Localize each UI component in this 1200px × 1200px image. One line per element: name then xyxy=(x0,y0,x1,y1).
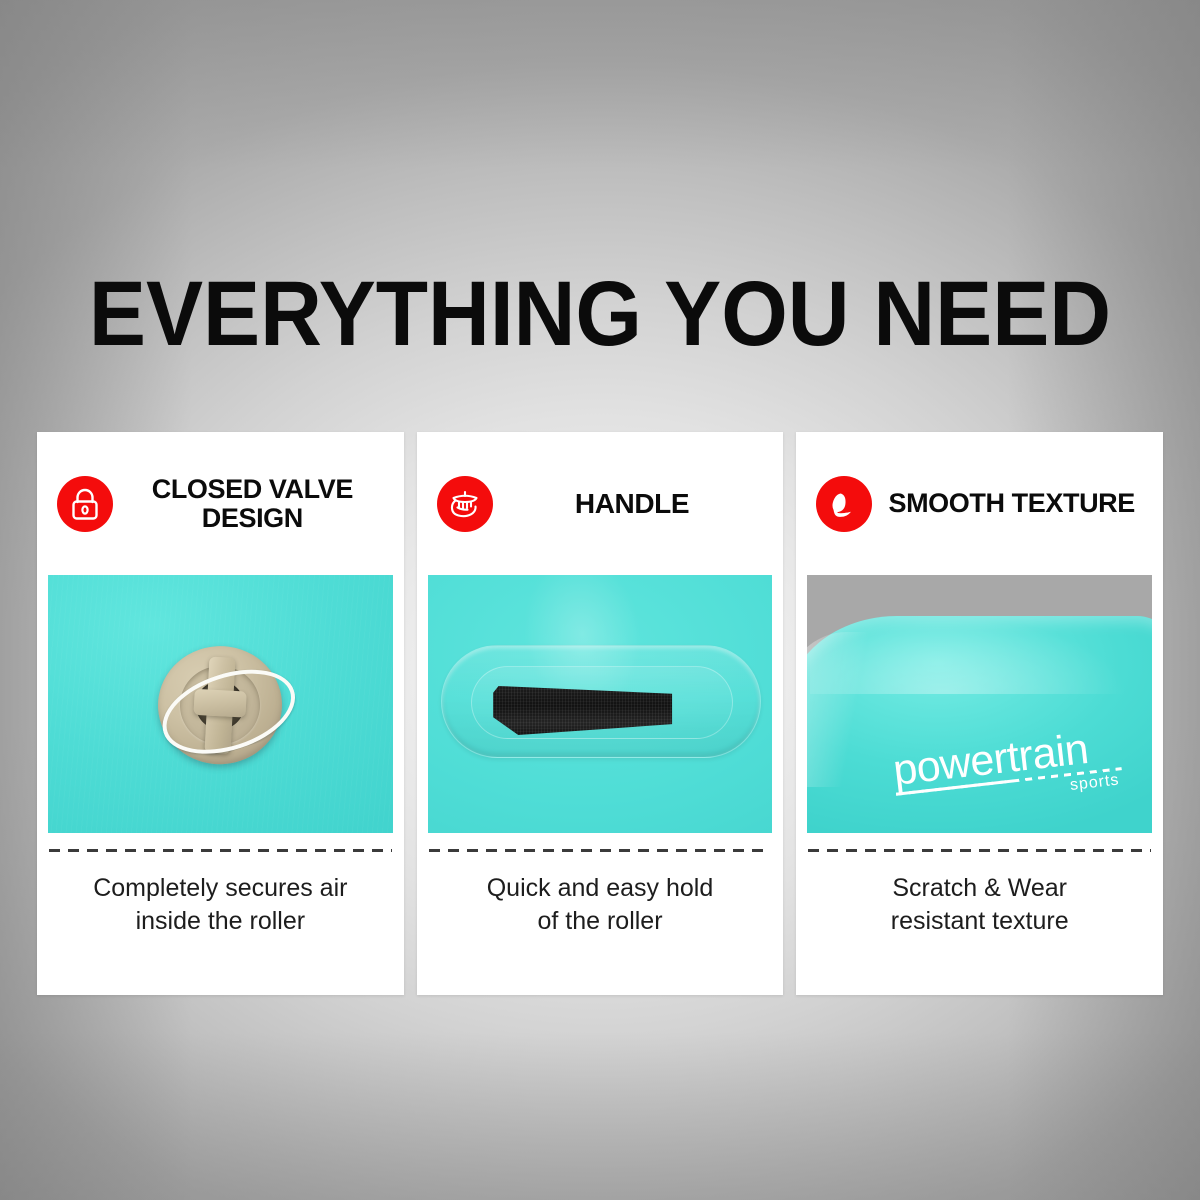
feature-cards-row: CLOSED VALVE DESIGN Completely secures a… xyxy=(37,432,1163,995)
feature-card-handle[interactable]: HANDLE Quick and easy hold of the roller xyxy=(417,432,784,995)
closed-valve-photo xyxy=(48,575,393,833)
card-title: HANDLE xyxy=(499,489,770,519)
feature-card-closed-valve-design[interactable]: CLOSED VALVE DESIGN Completely secures a… xyxy=(37,432,404,995)
feature-card-smooth-texture[interactable]: SMOOTH TEXTURE powertrain sports Scratch… xyxy=(796,432,1163,995)
grip-hand-icon xyxy=(437,476,493,532)
card-caption: Quick and easy hold of the roller xyxy=(417,852,784,995)
card-title: CLOSED VALVE DESIGN xyxy=(119,475,390,533)
valve-assembly xyxy=(155,643,285,767)
card-header: SMOOTH TEXTURE xyxy=(796,432,1163,575)
feather-icon xyxy=(816,476,872,532)
card-caption: Completely secures air inside the roller xyxy=(37,852,404,995)
handle-strap-photo xyxy=(428,575,773,833)
page-title: EVERYTHING YOU NEED xyxy=(42,268,1158,360)
card-title: SMOOTH TEXTURE xyxy=(878,489,1149,518)
smooth-texture-photo: powertrain sports xyxy=(807,575,1152,833)
padlock-icon xyxy=(57,476,113,532)
card-caption: Scratch & Wear resistant texture xyxy=(796,852,1163,995)
card-header: CLOSED VALVE DESIGN xyxy=(37,432,404,575)
card-header: HANDLE xyxy=(417,432,784,575)
page-background: EVERYTHING YOU NEED CLOSED VALVE DESIGN xyxy=(0,0,1200,1200)
